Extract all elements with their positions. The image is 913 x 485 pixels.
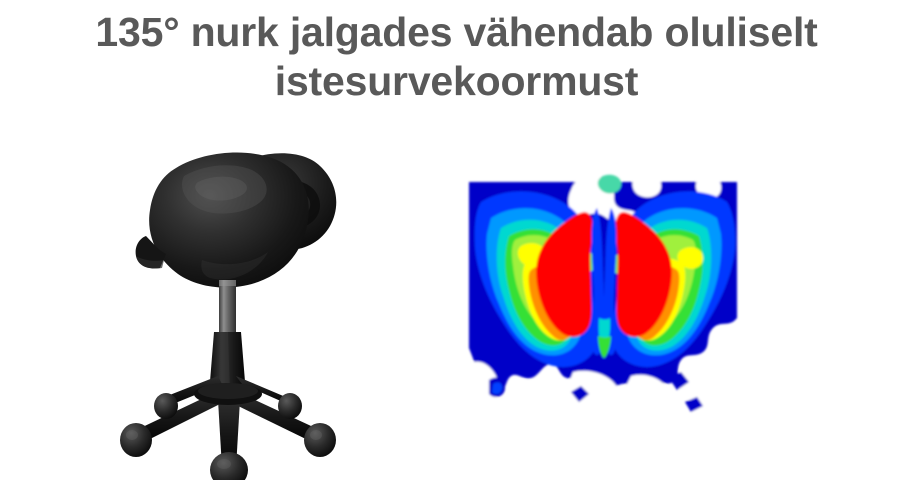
caster-rear-left xyxy=(154,393,178,419)
page-title-line-1: 135° nurk jalgades vähendab oluliselt xyxy=(0,8,913,57)
page-title: 135° nurk jalgades vähendab oluliselt is… xyxy=(0,8,913,106)
pressure-map-illustration xyxy=(455,168,751,430)
saddle-stool-illustration xyxy=(106,132,356,480)
saddle-stool-photo xyxy=(106,132,356,480)
seat-pressure-heatmap xyxy=(455,168,751,430)
page-canvas: 135° nurk jalgades vähendab oluliselt is… xyxy=(0,0,913,485)
caster-front-left xyxy=(120,423,152,457)
page-title-line-2: istesurvekoormust xyxy=(0,57,913,106)
heatmap-bands xyxy=(455,175,751,430)
caster-rear-right xyxy=(278,393,302,419)
gas-lift-cylinder xyxy=(219,280,236,336)
seat-cushion xyxy=(149,153,309,288)
caster-front-right xyxy=(304,423,336,457)
